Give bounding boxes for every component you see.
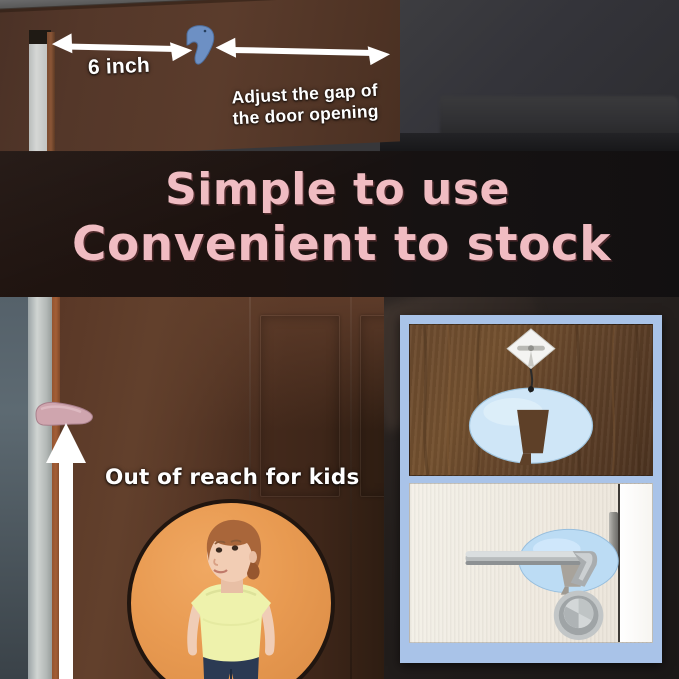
door-panel-inset bbox=[360, 315, 384, 497]
photo-divider bbox=[409, 476, 653, 483]
out-of-reach-up-arrow bbox=[44, 423, 88, 679]
product-usage-card bbox=[400, 315, 662, 663]
wood-door-with-hook-photo bbox=[409, 324, 653, 476]
room-floor bbox=[380, 133, 679, 152]
white-door-handle-photo bbox=[409, 483, 653, 643]
bottom-left-panel-out-of-reach: Out of reach for kids bbox=[0, 297, 384, 679]
bottom-right-panel-product-card bbox=[384, 297, 679, 679]
six-inch-label: 6 inch bbox=[88, 54, 151, 80]
gap-adjust-arrow bbox=[214, 32, 390, 78]
banner-headline-1: Simple to use bbox=[0, 164, 677, 215]
wood-door-hook-illustration bbox=[410, 325, 652, 475]
white-door-handle-illustration bbox=[410, 484, 652, 642]
infographic-root: 6 inch Adjust the gap of the door openin… bbox=[0, 0, 679, 679]
room-furniture bbox=[440, 96, 679, 138]
top-panel-door-gap: 6 inch Adjust the gap of the door openin… bbox=[0, 0, 679, 152]
marketing-banner: Simple to use Convenient to stock bbox=[0, 151, 679, 297]
out-of-reach-label: Out of reach for kids bbox=[105, 465, 359, 490]
adhesive-hook-icon bbox=[507, 329, 555, 368]
child-photo-circle bbox=[127, 499, 335, 679]
child-illustration bbox=[131, 503, 331, 679]
lock-knob-icon bbox=[554, 591, 604, 640]
door-opening-gap bbox=[29, 44, 47, 152]
banner-headline-2: Convenient to stock bbox=[2, 217, 679, 272]
adjust-gap-label: Adjust the gap of the door opening bbox=[231, 79, 403, 130]
